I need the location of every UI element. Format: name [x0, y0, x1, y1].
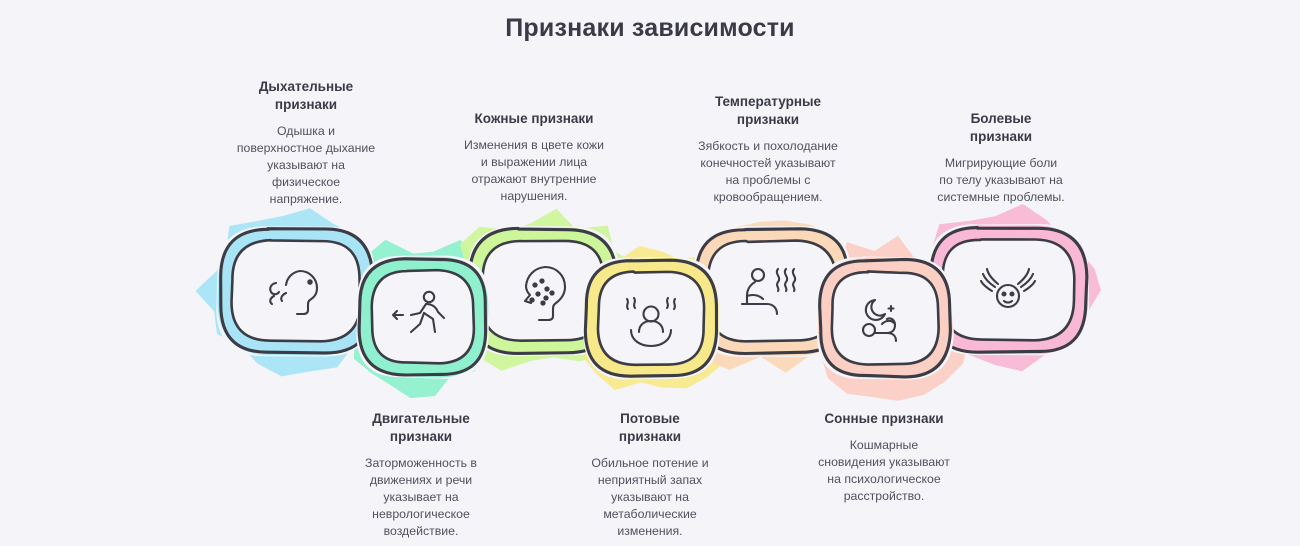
label-heading-temperature: Температурные признаки — [672, 93, 864, 129]
label-heading-sweat: Потовые признаки — [562, 410, 738, 446]
label-block-pain: Болевые признаки Мигрирующие боли по тел… — [908, 110, 1094, 206]
label-heading-skin: Кожные признаки — [441, 110, 627, 128]
headache-face-icon — [981, 269, 1035, 307]
label-block-sleep: Сонные признаки Кошмарные сновидения ука… — [791, 410, 977, 505]
breathing-face-icon — [270, 271, 317, 314]
label-description-sleep: Кошмарные сновидения указывают на психол… — [791, 437, 977, 505]
chain-link-3-light-green — [467, 226, 619, 356]
chain-link-highlight-pink — [922, 204, 1101, 371]
shivering-person-heat-waves-icon — [742, 269, 795, 314]
sleeping-person-moon-icon — [863, 300, 896, 341]
chain-link-6-salmon — [817, 256, 954, 380]
label-block-breathing: Дыхательные признаки Одышка и поверхност… — [213, 78, 399, 208]
label-description-temperature: Зябкость и похолодание конечностей указы… — [672, 138, 864, 206]
chain-link-highlight-yellow — [573, 246, 740, 390]
chain-link-4-yellow — [583, 257, 719, 380]
label-heading-pain: Болевые признаки — [908, 110, 1094, 146]
label-description-pain: Мигрирующие боли по телу указывают на си… — [908, 155, 1094, 206]
chain-link-highlight-light-green — [447, 209, 640, 371]
page-title: Признаки зависимости — [0, 14, 1300, 43]
chain-link-7-pink — [926, 224, 1089, 355]
chain-link-highlight-salmon — [807, 236, 976, 401]
label-description-skin: Изменения в цвете кожи и выражении лица … — [441, 137, 627, 205]
chain-link-1-light-blue — [216, 226, 375, 356]
label-description-sweat: Обильное потение и неприятный запах указ… — [562, 455, 738, 540]
sweating-person-icon — [627, 298, 675, 346]
label-description-motor: Заторможенность в движениях и речи указы… — [328, 455, 514, 540]
label-block-skin: Кожные признаки Изменения в цвете кожи и… — [441, 110, 627, 205]
label-description-breathing: Одышка и поверхностное дыхание указывают… — [213, 123, 399, 208]
label-heading-motor: Двигательные признаки — [328, 410, 514, 446]
chain-link-5-peach — [693, 226, 851, 357]
spotted-face-icon — [525, 267, 565, 320]
chain-link-highlight-peach — [677, 221, 864, 373]
label-heading-sleep: Сонные признаки — [791, 410, 977, 428]
label-block-motor: Двигательные признаки Заторможенность в … — [328, 410, 514, 540]
label-heading-breathing: Дыхательные признаки — [213, 78, 399, 114]
chain-link-2-mint-green — [356, 256, 489, 379]
running-person-icon — [393, 292, 444, 332]
infographic-root: Признаки зависимости Дыхательные признак… — [0, 0, 1300, 546]
chain-link-highlight-mint-green — [335, 240, 504, 398]
chain-links-group — [196, 204, 1101, 401]
label-block-sweat: Потовые признаки Обильное потение и непр… — [562, 410, 738, 540]
chain-link-highlight-light-blue — [196, 208, 397, 376]
label-block-temperature: Температурные признаки Зябкость и похоло… — [672, 93, 864, 206]
